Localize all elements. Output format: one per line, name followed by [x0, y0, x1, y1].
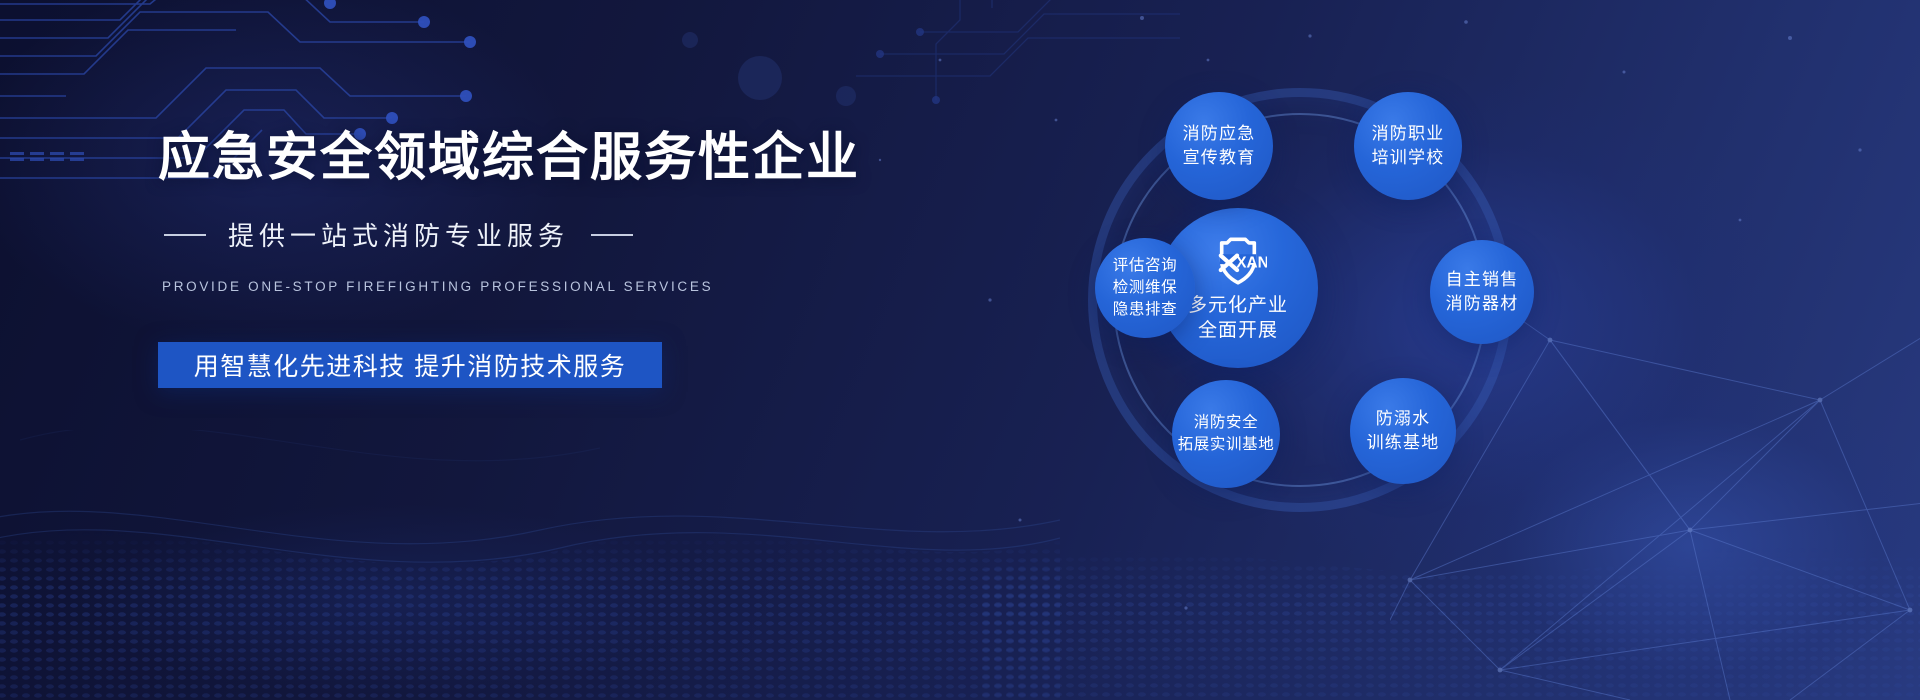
node-line-2: 培训学校	[1372, 146, 1445, 170]
center-line-2: 全面开展	[1188, 319, 1288, 344]
node-line-1: 评估咨询	[1113, 255, 1177, 277]
english-tagline: PROVIDE ONE-STOP FIREFIGHTING PROFESSION…	[162, 279, 918, 294]
cta-banner-label: 用智慧化先进科技 提升消防技术服务	[194, 347, 626, 383]
diagram-node-anti-drowning-base[interactable]: 防溺水 训练基地	[1350, 378, 1456, 484]
page-title: 应急安全领域综合服务性企业	[158, 132, 918, 184]
node-line-2: 消防器材	[1446, 292, 1519, 316]
node-label: 评估咨询 检测维保 隐患排查	[1113, 255, 1177, 321]
node-line-3: 隐患排查	[1113, 299, 1177, 321]
node-line-1: 消防应急	[1183, 122, 1256, 146]
center-line-1: 多元化产业	[1188, 294, 1288, 319]
node-label: 消防应急 宣传教育	[1183, 122, 1256, 170]
dash-right-icon	[591, 234, 633, 236]
node-line-2: 拓展实训基地	[1178, 434, 1275, 456]
node-line-1: 消防安全	[1178, 412, 1275, 434]
node-line-2: 宣传教育	[1183, 146, 1256, 170]
shield-xan-logo-icon: XAN	[1209, 232, 1267, 290]
hero-banner: 应急安全领域综合服务性企业 提供一站式消防专业服务 PROVIDE ONE-ST…	[0, 0, 1920, 700]
dash-left-icon	[164, 234, 206, 236]
node-line-1: 消防职业	[1372, 122, 1445, 146]
node-label: 消防职业 培训学校	[1372, 122, 1445, 170]
node-label: 防溺水 训练基地	[1367, 407, 1440, 455]
diagram-node-fire-emergency-education[interactable]: 消防应急 宣传教育	[1165, 92, 1273, 200]
node-line-2: 训练基地	[1367, 431, 1440, 455]
diagram-node-equipment-sales[interactable]: 自主销售 消防器材	[1430, 240, 1534, 344]
diagram-node-safety-training-base[interactable]: 消防安全 拓展实训基地	[1172, 380, 1280, 488]
node-line-1: 自主销售	[1446, 268, 1519, 292]
node-label: 自主销售 消防器材	[1446, 268, 1519, 316]
diagram-center-label: 多元化产业 全面开展	[1188, 294, 1288, 343]
node-line-2: 检测维保	[1113, 277, 1177, 299]
node-line-1: 防溺水	[1367, 407, 1440, 431]
business-scope-diagram: XAN 多元化产业 全面开展 消防应急 宣传教育 消防职业 培训学校 评估咨询	[930, 0, 1920, 700]
diagram-node-fire-vocational-school[interactable]: 消防职业 培训学校	[1354, 92, 1462, 200]
diagram-node-assessment-inspection[interactable]: 评估咨询 检测维保 隐患排查	[1095, 238, 1195, 338]
svg-text:XAN: XAN	[1236, 255, 1267, 272]
background-glow-lower-left	[0, 420, 980, 700]
subtitle-row: 提供一站式消防专业服务	[164, 216, 918, 253]
node-label: 消防安全 拓展实训基地	[1178, 412, 1275, 456]
subtitle: 提供一站式消防专业服务	[228, 216, 569, 253]
hero-copy-block: 应急安全领域综合服务性企业 提供一站式消防专业服务 PROVIDE ONE-ST…	[158, 132, 918, 388]
cta-banner-button[interactable]: 用智慧化先进科技 提升消防技术服务	[158, 342, 662, 388]
